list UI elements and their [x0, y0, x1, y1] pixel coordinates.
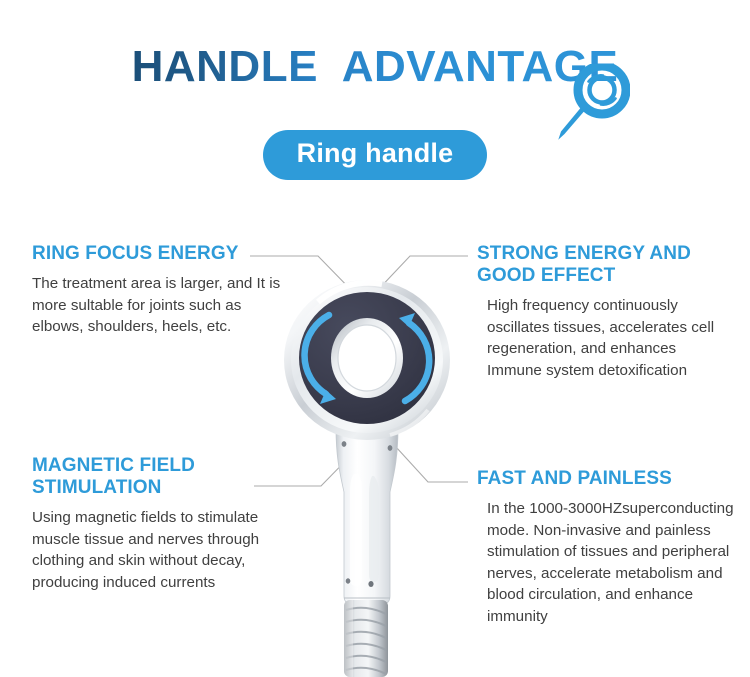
feature-body: The treatment area is larger, and It is … — [32, 273, 282, 338]
page-title: HANDLE ADVANTAGE — [132, 44, 619, 90]
ring-handle-badge: Ring handle — [263, 130, 488, 180]
feature-fast-and-painless: FAST AND PAINLESS In the 1000-3000HZsupe… — [477, 468, 739, 628]
feature-magnetic-field-stimulation: MAGNETIC FIELD STIMULATION Using magneti… — [32, 455, 297, 593]
feature-heading: STRONG ENERGY AND GOOD EFFECT — [477, 243, 727, 287]
feature-body: High frequency continuously oscillates t… — [477, 295, 727, 381]
feature-body: Using magnetic fields to stimulate muscl… — [32, 507, 297, 593]
feature-body: In the 1000-3000HZsuperconducting mode. … — [477, 498, 739, 627]
feature-ring-focus-energy: RING FOCUS ENERGY The treatment area is … — [32, 243, 282, 338]
handle-advantage-infographic: HANDLE ADVANTAGE Ring handle — [0, 0, 750, 677]
ring-handle-applicator — [278, 278, 468, 677]
badge-container: Ring handle — [0, 130, 750, 180]
feature-strong-energy-and-good-effect: STRONG ENERGY AND GOOD EFFECT High frequ… — [477, 243, 727, 381]
ring-head — [284, 280, 450, 440]
cable-strain-relief — [344, 600, 388, 677]
feature-heading: FAST AND PAINLESS — [477, 468, 739, 490]
header: HANDLE ADVANTAGE — [0, 44, 750, 90]
feature-heading: RING FOCUS ENERGY — [32, 243, 282, 265]
feature-heading: MAGNETIC FIELD STIMULATION — [32, 455, 297, 499]
handle-stem — [336, 428, 398, 604]
